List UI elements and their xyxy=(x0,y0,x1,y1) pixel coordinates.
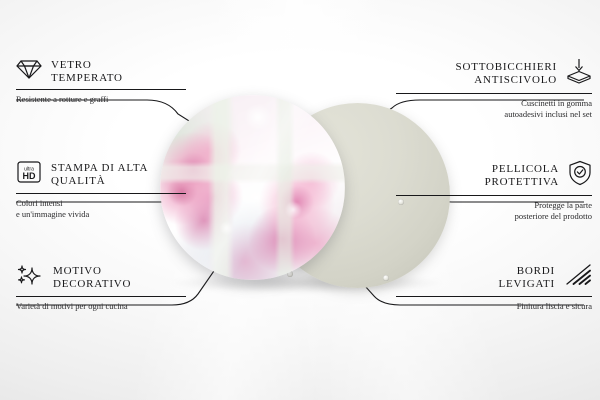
feature-title: STAMPA DI ALTA QUALITÀ xyxy=(51,162,148,188)
sparkles-icon xyxy=(16,263,44,292)
feature-sottobicchieri-antiscivolo: SOTTOBICCHIERI ANTISCIVOLO Cuscinetti in… xyxy=(396,58,592,119)
svg-text:HD: HD xyxy=(23,171,36,181)
ultra-hd-icon: ultra HD xyxy=(16,160,42,189)
feature-title: VETRO TEMPERATO xyxy=(51,59,123,85)
feature-stampa-alta-qualita: ultra HD STAMPA DI ALTA QUALITÀ Colori i… xyxy=(16,160,186,219)
feature-subtitle: Protegge la parte posteriore del prodott… xyxy=(396,200,592,221)
feature-subtitle: Resistente a rotture e graffi xyxy=(16,94,186,105)
feature-bordi-levigati: BORDI LEVIGATI Finitura liscia e sicura xyxy=(396,263,592,312)
diagonal-lines-icon xyxy=(564,263,592,292)
feature-subtitle: Colori intensi e un'immagine vivida xyxy=(16,198,186,219)
coaster-front-cherry-blossom xyxy=(160,95,345,280)
feature-title: SOTTOBICCHIERI ANTISCIVOLO xyxy=(456,61,557,87)
feature-rule xyxy=(16,193,186,194)
rubber-pad xyxy=(383,275,389,281)
cherry-blossom-artwork xyxy=(160,95,345,280)
feature-rule xyxy=(396,195,592,196)
feature-subtitle: Cuscinetti in gomma autoadesivi inclusi … xyxy=(396,98,592,119)
feature-title: PELLICOLA PROTETTIVA xyxy=(485,163,559,189)
feature-rule xyxy=(16,89,186,90)
infographic-canvas: VETRO TEMPERATO Resistente a rotture e g… xyxy=(0,0,600,400)
feature-subtitle: Finitura liscia e sicura xyxy=(396,301,592,312)
feature-title: BORDI LEVIGATI xyxy=(499,265,556,291)
arrow-down-pad-icon xyxy=(566,58,592,89)
feature-pellicola-protettiva: PELLICOLA PROTETTIVA Protegge la parte p… xyxy=(396,160,592,221)
diamond-icon xyxy=(16,58,42,85)
feature-rule xyxy=(396,93,592,94)
feature-rule xyxy=(396,296,592,297)
feature-title: MOTIVO DECORATIVO xyxy=(53,265,131,291)
feature-rule xyxy=(16,296,186,297)
shield-check-icon xyxy=(568,160,592,191)
feature-vetro-temperato: VETRO TEMPERATO Resistente a rotture e g… xyxy=(16,58,186,105)
feature-subtitle: Varietà di motivi per ogni cucina xyxy=(16,301,186,312)
feature-motivo-decorativo: MOTIVO DECORATIVO Varietà di motivi per … xyxy=(16,263,186,312)
